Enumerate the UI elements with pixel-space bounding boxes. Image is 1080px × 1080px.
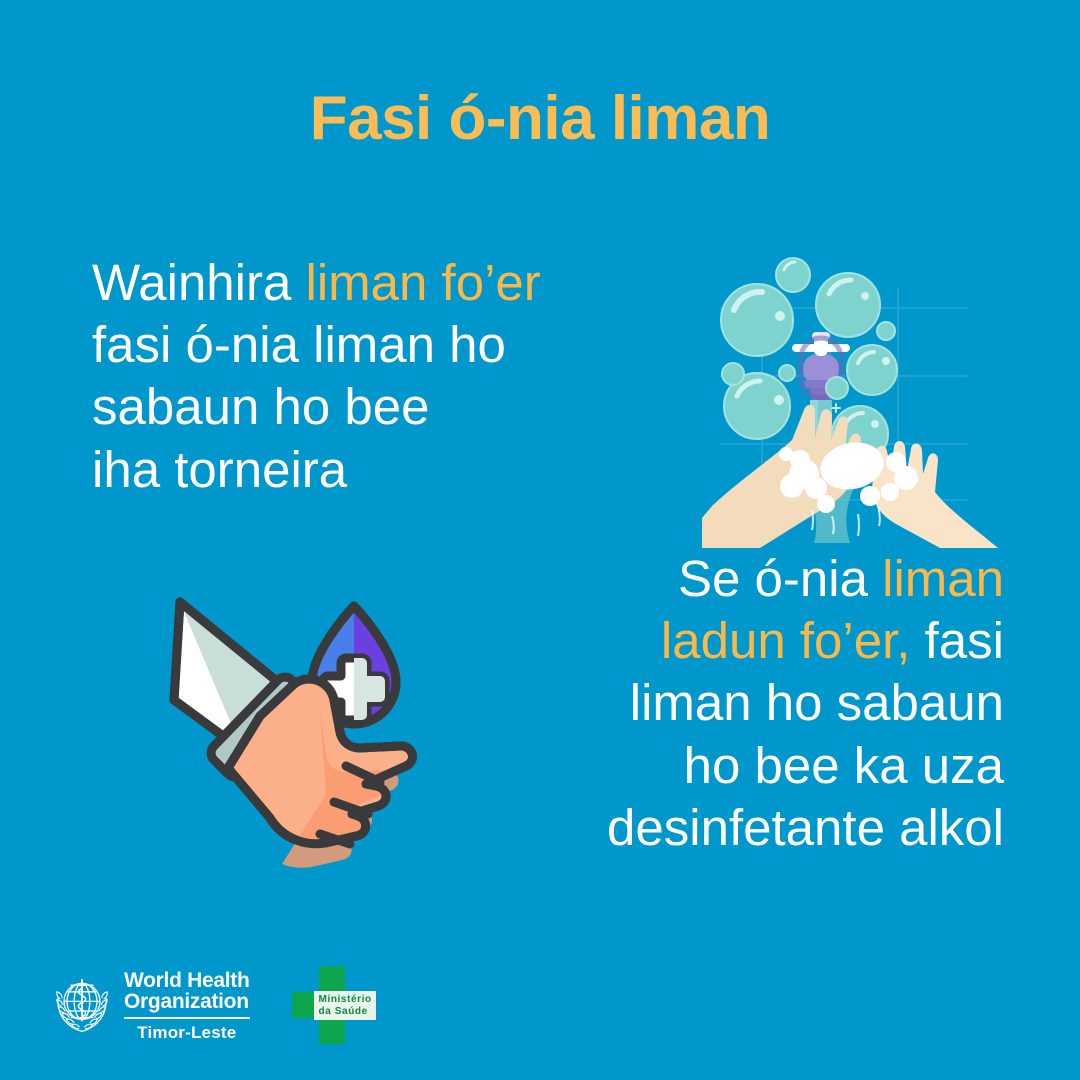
who-divider xyxy=(124,1017,250,1019)
ministry-label-line-1: Ministério xyxy=(319,994,372,1006)
message-one-line-1: Wainhira liman fo’er xyxy=(92,252,672,314)
message-two-line-1-plain: Se ó-nia xyxy=(678,550,882,607)
who-logo: World Health Organization Timor-Leste xyxy=(52,970,250,1041)
message-one-line-2: fasi ó-nia liman ho xyxy=(92,314,672,376)
message-two-line-3: liman ho sabaun xyxy=(448,672,1004,734)
who-emblem-icon xyxy=(52,975,112,1035)
poster-canvas: Fasi ó-nia liman Wainhira liman fo’er fa… xyxy=(0,0,1080,1080)
who-name-line-1: World Health xyxy=(124,970,250,991)
message-two-line-1: Se ó-nia liman xyxy=(448,548,1004,610)
who-wordmark: World Health Organization Timor-Leste xyxy=(124,970,250,1041)
message-one-text: Wainhira liman fo’er fasi ó-nia liman ho… xyxy=(92,252,672,501)
message-two-line-2-highlight: ladun fo’er, xyxy=(661,612,911,669)
message-one-line-3: sabaun ho bee xyxy=(92,376,672,438)
ministry-label: Ministério da Saúde xyxy=(314,991,376,1020)
footer-logos: World Health Organization Timor-Leste Mi… xyxy=(52,966,376,1044)
message-two-line-2-plain: fasi xyxy=(910,612,1004,669)
message-two-line-5: desinfetante alkol xyxy=(448,797,1004,859)
message-two-line-1-highlight: liman xyxy=(882,550,1004,607)
message-one-line-1-plain: Wainhira xyxy=(92,254,306,311)
message-two-line-2: ladun fo’er, fasi xyxy=(448,610,1004,672)
ministry-label-line-2: da Saúde xyxy=(319,1006,372,1018)
who-name: World Health Organization xyxy=(124,970,250,1012)
who-name-line-2: Organization xyxy=(124,991,250,1012)
message-one-line-1-highlight: liman fo’er xyxy=(306,254,541,311)
message-one-line-4: iha torneira xyxy=(92,439,672,501)
message-two-line-4: ho bee ka uza xyxy=(448,735,1004,797)
ministry-of-health-logo: Ministério da Saúde xyxy=(292,966,376,1044)
washing-hands-illustration xyxy=(700,248,1000,548)
message-two-text: Se ó-nia liman ladun fo’er, fasi liman h… xyxy=(448,548,1004,859)
hand-sanitizer-illustration xyxy=(168,588,458,878)
page-title: Fasi ó-nia liman xyxy=(0,86,1080,151)
who-country-label: Timor-Leste xyxy=(124,1024,250,1041)
